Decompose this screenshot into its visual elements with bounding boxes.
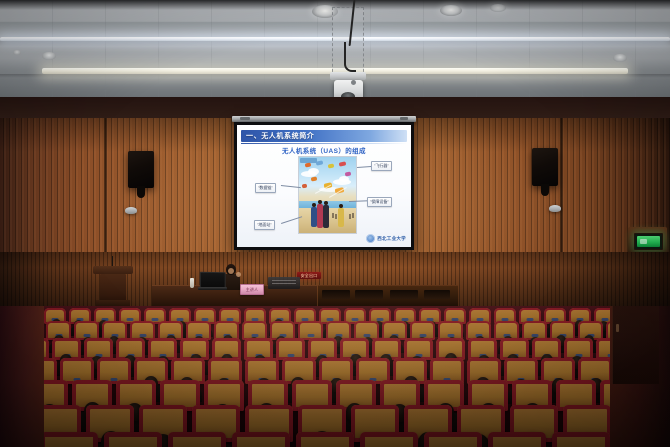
background-figure	[352, 213, 354, 218]
left-side-wall	[0, 306, 44, 447]
speaker-mount-left	[137, 186, 145, 198]
ceiling-vent	[42, 52, 56, 60]
background-figure	[349, 214, 351, 219]
presenter-nameplate-text: 主讲人	[241, 285, 263, 294]
auditorium-seat	[424, 432, 482, 447]
kite-shape	[339, 161, 347, 166]
wall-speaker-left	[128, 151, 154, 188]
callout-support: "保障设备"	[367, 197, 392, 207]
kite-shape	[345, 171, 352, 176]
ceiling-camera-right	[549, 205, 561, 212]
auditorium-seat	[40, 432, 98, 447]
callout-flier: "飞行器"	[371, 161, 392, 171]
exit-sign-icon	[637, 236, 660, 247]
kite-shape	[311, 176, 318, 181]
university-seal-icon	[366, 234, 375, 243]
university-logo-text: 西北工业大学	[377, 236, 406, 242]
projection-screen: 一、无人机系统简介 无人机系统（UAS）的组成	[234, 122, 414, 250]
ceiling-vent	[13, 50, 21, 55]
cloud-shape	[308, 168, 319, 175]
auditorium-seat	[104, 432, 162, 447]
table-front-panel	[355, 290, 383, 299]
auditorium-seat	[232, 432, 290, 447]
av-equipment-rack	[268, 277, 300, 289]
table-front-panel	[390, 290, 418, 299]
water-bottle	[190, 278, 194, 288]
auditorium-seat	[360, 432, 418, 447]
table-front-panel	[322, 290, 350, 299]
lectern-top	[93, 266, 133, 274]
kite-shape	[316, 160, 324, 165]
exit-sign	[634, 233, 663, 250]
ceiling-vent	[613, 54, 627, 62]
auditorium-seat	[552, 432, 610, 447]
speaker-mount-right	[541, 184, 549, 196]
background-figure	[332, 213, 334, 218]
projector-arm	[330, 72, 366, 80]
wall-safety-sign: 安全出口	[297, 272, 321, 279]
figure-body	[323, 205, 329, 228]
kite-shape	[305, 162, 312, 167]
callout-datalink: "数据链"	[255, 183, 276, 193]
slide-subtitle: 无人机系统（UAS）的组成	[237, 145, 411, 155]
audience-seating-area	[0, 306, 670, 447]
slide-title-bar: 一、无人机系统简介	[241, 130, 407, 142]
table-front-panel	[424, 290, 450, 299]
slide-illustration	[298, 156, 357, 234]
screen-surface: 一、无人机系统简介 无人机系统（UAS）的组成	[237, 125, 411, 247]
figure-head	[339, 204, 343, 208]
auditorium-seat	[276, 338, 305, 360]
recessed-downlight	[490, 4, 506, 12]
kite-shape	[302, 184, 308, 189]
background-figure	[335, 214, 337, 219]
callout-ground-station: "地面站"	[254, 220, 275, 230]
auditorium-seat	[296, 432, 354, 447]
door-handle-icon	[616, 324, 619, 332]
university-logo: 西北工业大学	[366, 234, 406, 243]
auditorium-scene: 一、无人机系统简介 无人机系统（UAS）的组成	[0, 0, 670, 447]
presenter-laptop-base	[198, 287, 227, 290]
projector-knob	[351, 80, 356, 85]
kite-shape	[328, 163, 335, 168]
presenter-face	[228, 268, 234, 274]
slide-title: 一、无人机系统简介	[241, 131, 314, 141]
recessed-downlight	[440, 5, 462, 16]
presentation-slide: 一、无人机系统简介 无人机系统（UAS）的组成	[237, 125, 411, 247]
projector-cable-loop	[344, 42, 356, 72]
wall-speaker-right	[532, 148, 558, 186]
auditorium-seat	[488, 432, 546, 447]
presenter-hand	[236, 272, 241, 277]
wall-safety-sign-text: 安全出口	[297, 272, 321, 279]
figure-head	[318, 200, 322, 204]
figure-head	[312, 203, 316, 207]
figure-body	[338, 208, 344, 227]
ceiling-camera-left	[125, 207, 137, 214]
presenter-nameplate: 主讲人	[240, 284, 264, 295]
figure-head	[324, 201, 328, 205]
cloud-shape	[339, 176, 349, 182]
slide-title-rule	[241, 143, 407, 144]
side-exit-door	[612, 306, 659, 384]
auditorium-seat	[168, 432, 226, 447]
